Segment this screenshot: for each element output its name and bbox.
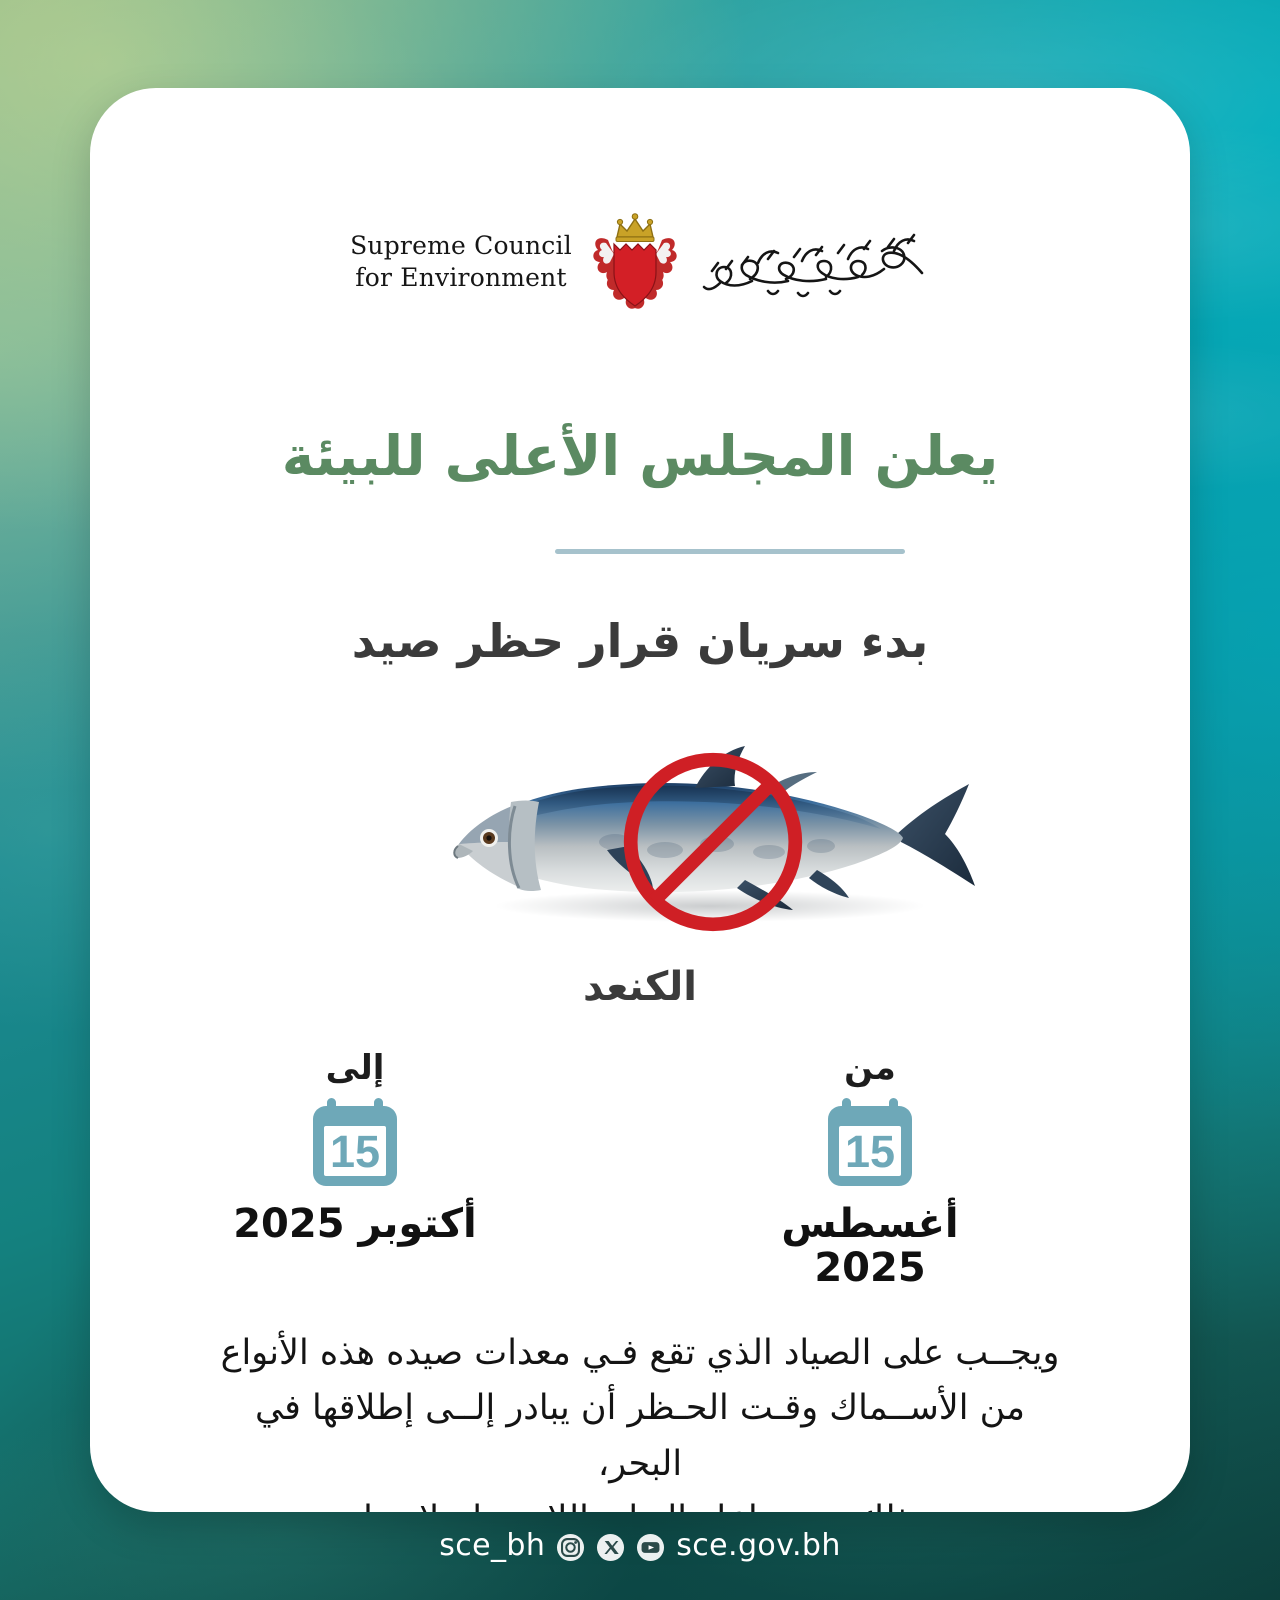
logo-english-name: Supreme Council for Environment [350, 230, 572, 294]
logo-arabic-calligraphy [698, 219, 930, 305]
calendar-day-end: 15 [330, 1126, 380, 1177]
announcement-card: Supreme Council for Environment [90, 88, 1190, 1512]
end-date-kicker: إلى [205, 1048, 505, 1088]
advisory-line-1: ويجــب على الصياد الذي تقع فـي معدات صيد… [210, 1326, 1070, 1381]
heading-divider [555, 549, 905, 554]
no-fishing-ban-symbol-icon [615, 744, 811, 940]
calendar-icon-end: 15 [310, 1096, 400, 1188]
start-date-label: أغسطس 2025 [720, 1202, 1020, 1290]
x-twitter-icon[interactable] [596, 1533, 625, 1562]
calendar-day-start: 15 [845, 1126, 895, 1177]
announcement-heading: يعلن المجلس الأعلى للبيئة [90, 424, 1190, 488]
website-url: sce.gov.bh [676, 1531, 841, 1564]
ban-end-date: إلى 15 أكتوبر 2025 [205, 1048, 505, 1246]
start-date-kicker: من [720, 1048, 1020, 1088]
instagram-icon[interactable] [556, 1533, 585, 1562]
advisory-paragraph: ويجــب على الصياد الذي تقع فـي معدات صيد… [210, 1326, 1070, 1512]
advisory-line-2: من الأســماك وقـت الحـظر أن يبادر إلــى … [210, 1381, 1070, 1492]
youtube-icon[interactable] [636, 1533, 665, 1562]
calendar-icon-start: 15 [825, 1096, 915, 1188]
species-illustration [445, 738, 1015, 978]
ban-subtitle: بدء سريان قرار حظر صيد [90, 614, 1190, 668]
end-date-label: أكتوبر 2025 [205, 1202, 505, 1246]
species-label: الكنعد [90, 964, 1190, 1010]
advisory-line-3: وذلك مع مراعاة العناية اللازمة لسلامتها. [210, 1492, 1070, 1512]
social-handle: sce_bh [439, 1531, 545, 1564]
organization-logo: Supreme Council for Environment [90, 210, 1190, 314]
ban-period: إلى 15 أكتوبر 2025 من 15 أغسطس 2025 [90, 1048, 1190, 1298]
social-footer: sce_bh sce.gov.bh [0, 1531, 1280, 1564]
ban-start-date: من 15 أغسطس 2025 [720, 1048, 1020, 1290]
bahrain-coat-of-arms-icon [582, 210, 688, 314]
